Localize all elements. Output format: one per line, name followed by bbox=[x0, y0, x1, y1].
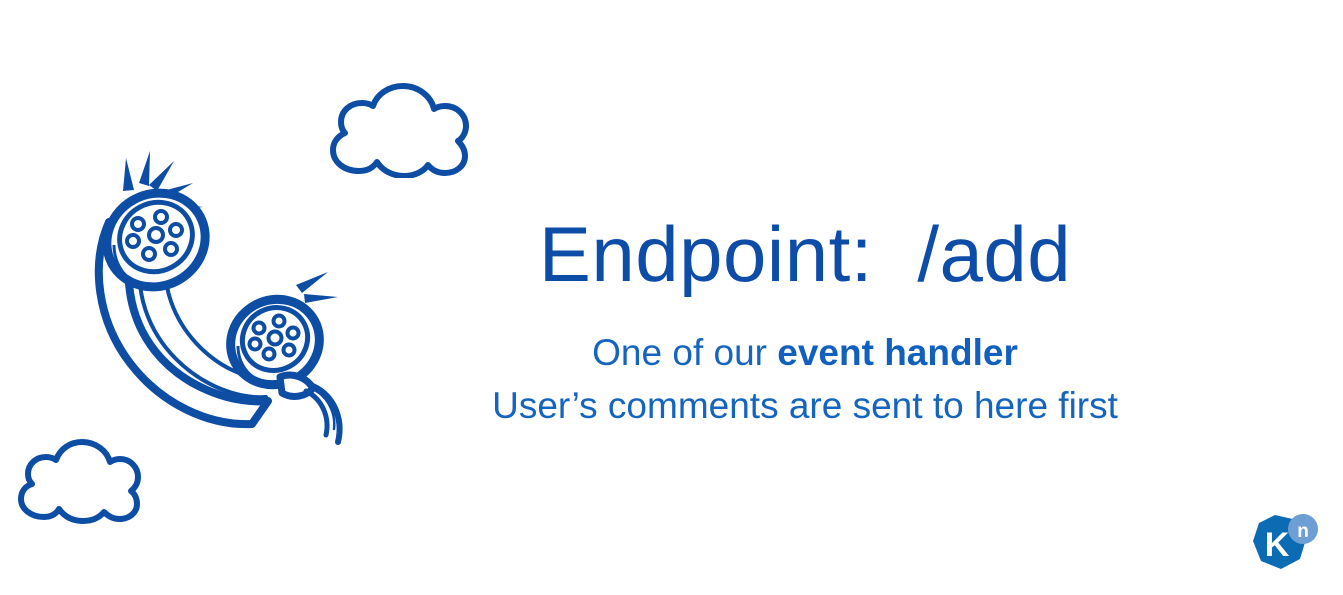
subtitle-block: One of our event handler User’s comments… bbox=[440, 327, 1170, 432]
subtitle-line-1: One of our event handler bbox=[440, 327, 1170, 380]
cord-connector bbox=[280, 375, 313, 396]
ring-lines-mouthpiece bbox=[296, 272, 338, 303]
subtitle-line-2: User’s comments are sent to here first bbox=[440, 380, 1170, 433]
ringing-telephone-handset-illustration bbox=[70, 145, 370, 450]
mouthpiece bbox=[216, 284, 335, 400]
earpiece bbox=[90, 176, 221, 304]
brand-logo: K n bbox=[1247, 511, 1319, 579]
slide-canvas: Endpoint: /add One of our event handler … bbox=[0, 0, 1343, 595]
ring-lines-earpiece bbox=[123, 151, 203, 211]
cloud-icon bbox=[8, 428, 148, 524]
subtitle-line-1-emphasis: event handler bbox=[777, 332, 1018, 373]
cloud-icon bbox=[318, 70, 476, 178]
subtitle-line-1-prefix: One of our bbox=[592, 332, 777, 373]
logo-letter: K bbox=[1265, 526, 1290, 564]
logo-badge-letter: n bbox=[1297, 521, 1309, 542]
text-block: Endpoint: /add One of our event handler … bbox=[440, 215, 1170, 432]
page-title: Endpoint: /add bbox=[440, 215, 1170, 293]
